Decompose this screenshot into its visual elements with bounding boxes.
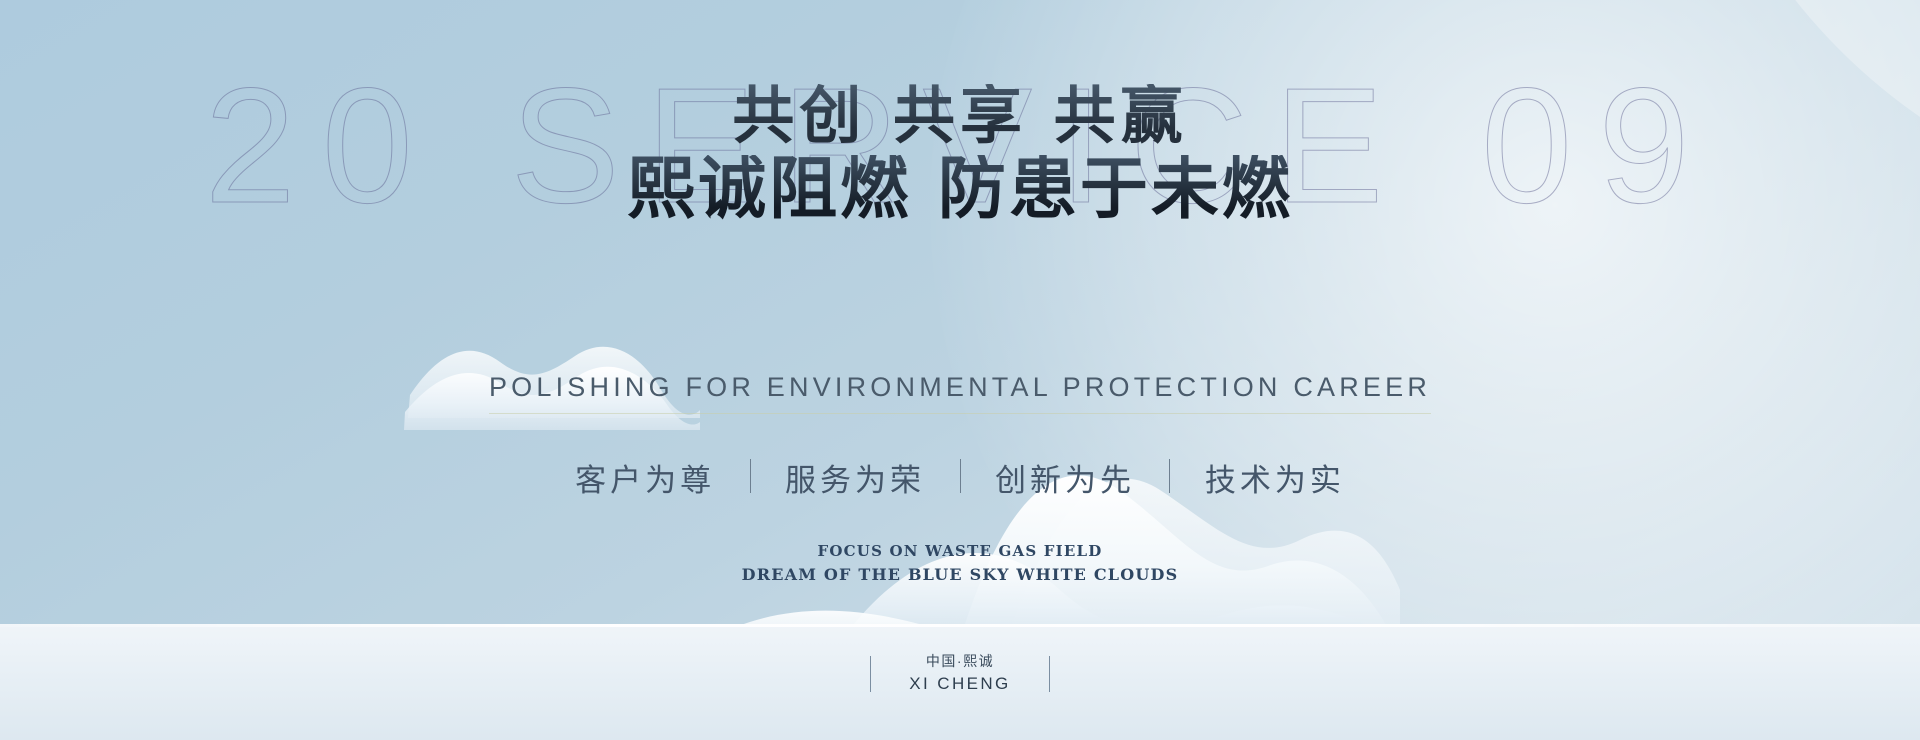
brand-name-cn: 中国·熙诚 — [909, 651, 1010, 672]
promotional-banner: 20 SERVICE 09 — [0, 0, 1920, 740]
slogan-item-1: 客户为尊 — [575, 455, 715, 500]
tagline-line-2: DREAM OF THE BLUE SKY WHITE CLOUDS — [0, 563, 1920, 588]
slogan-separator-2 — [960, 459, 961, 493]
headline-block: 共创 共享 共赢 熙诚阻燃 防患于未燃 — [0, 84, 1920, 225]
tagline-line-1: FOCUS ON WASTE GAS FIELD — [0, 540, 1920, 563]
subtitle-block: POLISHING FOR ENVIRONMENTAL PROTECTION C… — [0, 372, 1920, 414]
brand-rule-right — [1049, 656, 1050, 692]
slogan-separator-1 — [750, 459, 751, 493]
brand-name-en: XI CHENG — [909, 672, 1010, 696]
slogan-separator-3 — [1169, 459, 1170, 493]
slogan-item-4: 技术为实 — [1205, 455, 1345, 500]
brand-names: 中国·熙诚 XI CHENG — [909, 651, 1010, 696]
slogan-item-2: 服务为荣 — [785, 455, 925, 500]
tagline-block: FOCUS ON WASTE GAS FIELD DREAM OF THE BL… — [0, 540, 1920, 588]
headline-line-2: 熙诚阻燃 防患于未燃 — [0, 155, 1920, 224]
subtitle-text: POLISHING FOR ENVIRONMENTAL PROTECTION C… — [489, 372, 1431, 414]
headline-line-1: 共创 共享 共赢 — [0, 84, 1920, 147]
slogan-row: 客户为尊 服务为荣 创新为先 技术为实 — [0, 455, 1920, 500]
slogan-item-3: 创新为先 — [995, 455, 1135, 500]
ring-mid-outer — [1800, 0, 1920, 90]
brand-lockup: 中国·熙诚 XI CHENG — [0, 651, 1920, 696]
brand-rule-left — [870, 656, 871, 692]
